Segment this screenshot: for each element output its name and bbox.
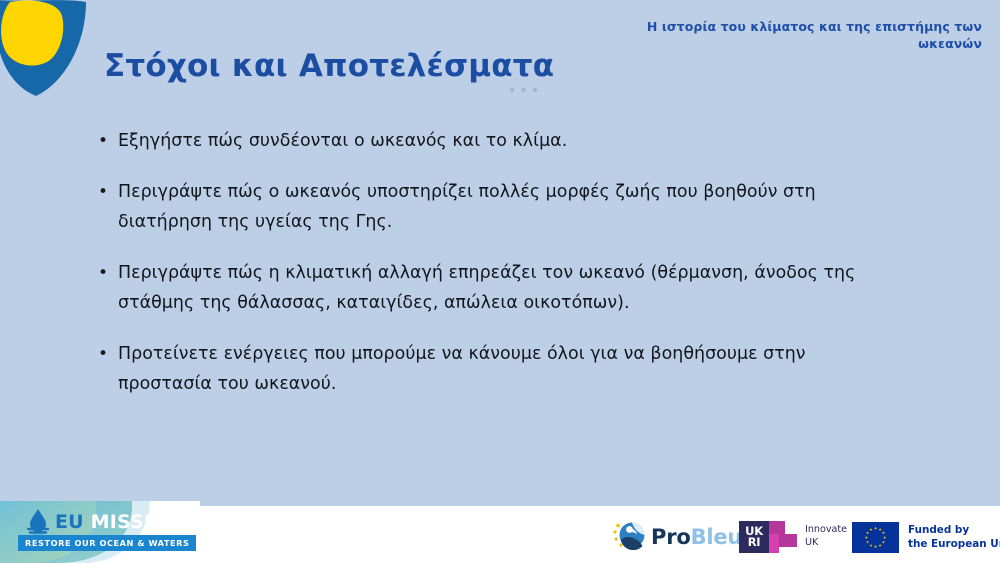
eu-missions-wordmark: EU MISSIONS bbox=[55, 511, 198, 533]
probleu-globe-icon bbox=[612, 520, 646, 554]
innovate-uk-label: Innovate UK bbox=[805, 524, 847, 549]
eu-funded-logo: Funded by the European Union bbox=[852, 521, 1000, 553]
probleu-logo: ProBleu bbox=[612, 520, 742, 554]
list-item: • Περιγράψτε πώς η κλιματική αλλαγή επηρ… bbox=[94, 258, 884, 318]
ukri-lettermark: UK RI bbox=[739, 521, 769, 553]
eu-missions-logo: EU MISSIONS RESTORE OUR OCEAN & WATERS bbox=[0, 501, 200, 563]
brand-mark-icon bbox=[0, 0, 100, 104]
bullet-marker-icon: • bbox=[94, 258, 118, 288]
probleu-wordmark: ProBleu bbox=[651, 525, 742, 549]
probleu-word-bleu: Bleu bbox=[691, 525, 743, 549]
slide: Η ιστορία του κλίματος και της επιστήμης… bbox=[0, 0, 1000, 563]
list-item-text: Περιγράψτε πώς η κλιματική αλλαγή επηρεά… bbox=[118, 258, 884, 318]
bullet-marker-icon: • bbox=[94, 126, 118, 156]
page-title: Στόχοι και Αποτελέσματα bbox=[104, 48, 554, 84]
list-item-text: Εξηγήστε πώς συνδέονται ο ωκεανός και το… bbox=[118, 126, 884, 156]
header-subject-title: Η ιστορία του κλίματος και της επιστήμης… bbox=[642, 18, 982, 53]
footer-bar: EU MISSIONS RESTORE OUR OCEAN & WATERS bbox=[0, 506, 1000, 563]
innovate-uk-label-line2: UK bbox=[805, 537, 847, 550]
eu-missions-tagline: RESTORE OUR OCEAN & WATERS bbox=[18, 535, 196, 551]
objectives-list: • Εξηγήστε πώς συνδέονται ο ωκεανός και … bbox=[94, 126, 884, 420]
ukri-mark-icon: UK RI bbox=[739, 521, 797, 553]
list-item: • Προτείνετε ενέργειες που μπορούμε να κ… bbox=[94, 339, 884, 399]
innovate-uk-label-line1: Innovate bbox=[805, 524, 847, 537]
list-item: • Εξηγήστε πώς συνδέονται ο ωκεανός και … bbox=[94, 126, 884, 156]
ukri-block-top bbox=[769, 521, 785, 534]
eu-funded-label: Funded by the European Union bbox=[908, 523, 1000, 551]
water-drop-waves-icon bbox=[27, 509, 49, 537]
eu-missions-word-eu: EU bbox=[55, 511, 84, 533]
ukri-block-right bbox=[779, 534, 797, 547]
bullet-marker-icon: • bbox=[94, 339, 118, 369]
eu-funded-label-line2: the European Union bbox=[908, 537, 1000, 551]
ukri-line-ri: RI bbox=[748, 537, 761, 549]
eu-flag-icon bbox=[852, 522, 899, 553]
probleu-word-pro: Pro bbox=[651, 525, 691, 549]
eu-missions-word-missions: MISSIONS bbox=[84, 511, 198, 533]
list-item: • Περιγράψτε πώς ο ωκεανός υποστηρίζει π… bbox=[94, 177, 884, 237]
list-item-text: Περιγράψτε πώς ο ωκεανός υποστηρίζει πολ… bbox=[118, 177, 884, 237]
innovate-uk-logo: UK RI Innovate UK bbox=[739, 521, 847, 553]
list-item-text: Προτείνετε ενέργειες που μπορούμε να κάν… bbox=[118, 339, 884, 399]
title-trailing-dots: ... bbox=[508, 75, 542, 97]
ukri-block-mid bbox=[769, 534, 779, 553]
eu-funded-label-line1: Funded by bbox=[908, 523, 1000, 537]
bullet-marker-icon: • bbox=[94, 177, 118, 207]
